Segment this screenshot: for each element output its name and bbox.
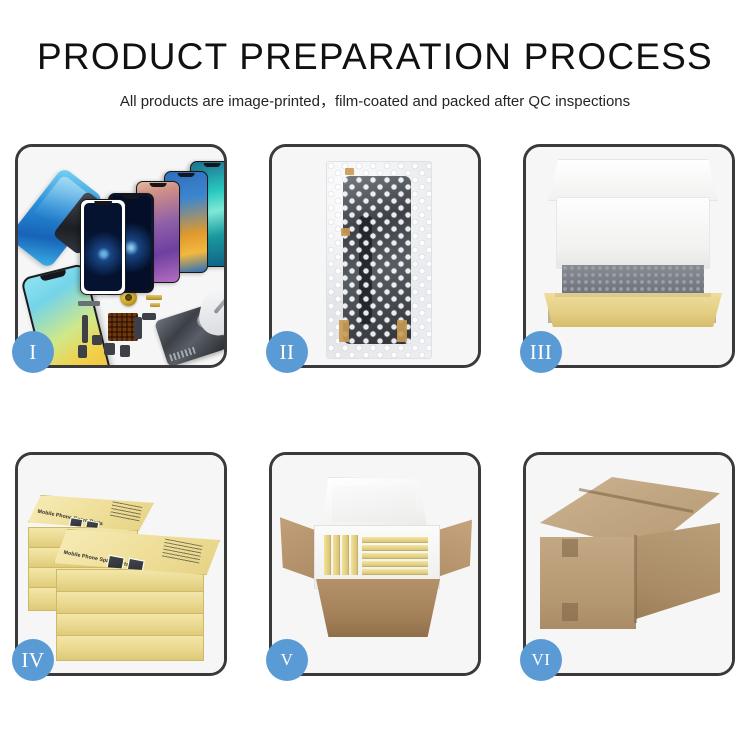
spare-parts-group bbox=[78, 287, 224, 365]
phone-lineup bbox=[80, 159, 224, 279]
process-step-5-image bbox=[272, 455, 478, 673]
stacked-box-fr-2 bbox=[56, 591, 204, 615]
carton-vertical-edge bbox=[634, 535, 637, 623]
flex-cable-3 bbox=[78, 345, 87, 358]
retail-box-stack: Mobile Phone Spare Parts Mobile Phone Sp… bbox=[26, 473, 224, 663]
flex-cable-2 bbox=[92, 335, 102, 345]
label-text-lines-back bbox=[110, 501, 143, 522]
flex-cable-6 bbox=[134, 317, 142, 339]
step-badge-2: II bbox=[266, 331, 308, 373]
tape-tab-bottom-right bbox=[397, 320, 407, 342]
gold-contact-1 bbox=[146, 295, 162, 300]
stacked-box-fr-3 bbox=[56, 613, 204, 637]
tape-tab-top bbox=[345, 168, 354, 175]
process-step-5[interactable]: V bbox=[269, 452, 481, 676]
flex-cable-5 bbox=[120, 345, 130, 357]
gold-contact-2 bbox=[150, 303, 160, 307]
page-header: PRODUCT PREPARATION PROCESS All products… bbox=[0, 0, 750, 111]
process-step-1-image bbox=[18, 147, 224, 365]
packed-box-v4 bbox=[351, 535, 358, 575]
step-badge-6: VI bbox=[520, 639, 562, 681]
stacked-box-fr-4 bbox=[56, 635, 204, 661]
process-step-2[interactable]: II bbox=[269, 144, 481, 368]
process-step-3-image bbox=[526, 147, 732, 365]
packed-retail-boxes bbox=[324, 535, 428, 575]
process-step-6[interactable]: VI bbox=[523, 452, 735, 676]
process-step-4[interactable]: Mobile Phone Spare Parts Mobile Phone Sp… bbox=[15, 452, 227, 676]
packed-box-h1 bbox=[362, 537, 428, 543]
process-step-grid: I II bbox=[15, 144, 735, 676]
process-step-4-image: Mobile Phone Spare Parts Mobile Phone Sp… bbox=[18, 455, 224, 673]
page-subtitle: All products are image-printed，film-coat… bbox=[0, 90, 750, 111]
step-badge-3: III bbox=[520, 331, 562, 373]
screwdriver-icon bbox=[213, 289, 224, 315]
grey-foam-padding bbox=[562, 265, 704, 295]
carton-tape-top bbox=[562, 539, 578, 557]
process-step-1[interactable]: I bbox=[15, 144, 227, 368]
packed-box-v3 bbox=[342, 535, 349, 575]
bubble-wrap-bag bbox=[326, 161, 432, 359]
step-badge-1: I bbox=[12, 331, 54, 373]
packed-box-h2 bbox=[362, 545, 428, 551]
packed-box-v2 bbox=[333, 535, 340, 575]
white-foam-sheet bbox=[556, 197, 710, 269]
carton-body bbox=[316, 579, 440, 637]
process-step-2-image bbox=[272, 147, 478, 365]
carton-side-face bbox=[636, 523, 720, 619]
tape-tab-mid bbox=[341, 228, 350, 236]
part-bar bbox=[78, 301, 100, 306]
label-text-lines-front bbox=[161, 539, 202, 566]
step-badge-5: V bbox=[266, 639, 308, 681]
packed-box-v1 bbox=[324, 535, 331, 575]
carton-front-face bbox=[540, 537, 636, 629]
screen-protector bbox=[80, 199, 126, 295]
box-lid-open bbox=[548, 159, 718, 201]
process-step-3[interactable]: III bbox=[523, 144, 735, 368]
process-step-6-image bbox=[526, 455, 732, 673]
step-badge-4: IV bbox=[12, 639, 54, 681]
tape-tab-bottom-left bbox=[339, 320, 349, 342]
page-title: PRODUCT PREPARATION PROCESS bbox=[0, 38, 750, 77]
flex-cable-1 bbox=[82, 315, 88, 343]
carton-tape-bottom bbox=[562, 603, 578, 621]
packed-box-h4 bbox=[362, 561, 428, 567]
packed-box-h3 bbox=[362, 553, 428, 559]
flex-cable-7 bbox=[142, 313, 156, 320]
flex-cable-4 bbox=[104, 343, 115, 355]
stacked-box-lid-back: Mobile Phone Spare Parts bbox=[28, 495, 154, 531]
kraft-box-base bbox=[544, 293, 722, 327]
packed-box-h5 bbox=[362, 569, 428, 575]
